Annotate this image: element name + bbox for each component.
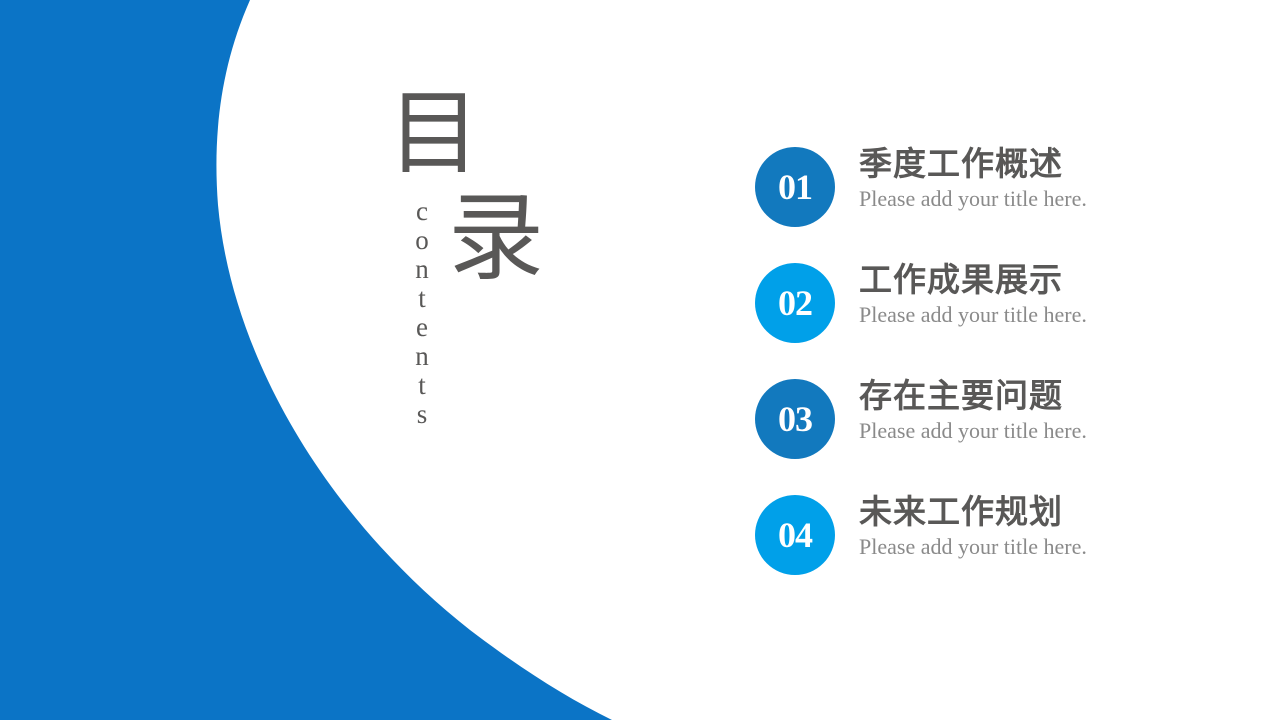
contents-list: 01 季度工作概述 Please add your title here. 02… — [755, 147, 1215, 611]
item-number-badge[interactable]: 03 — [755, 379, 835, 459]
list-item-subtitle: Please add your title here. — [859, 418, 1209, 444]
slide-canvas: 目 录 c o n t e n t s 01 季度工作概述 Please add… — [0, 0, 1280, 720]
title-latin-letter: e — [416, 314, 428, 343]
title-latin-letter: s — [417, 401, 428, 430]
title-latin-letter: n — [415, 256, 429, 285]
title-latin-letter: n — [415, 343, 429, 372]
list-item[interactable]: 01 季度工作概述 Please add your title here. — [755, 147, 1215, 263]
list-item-title: 未来工作规划 — [859, 492, 1209, 532]
item-number-badge[interactable]: 02 — [755, 263, 835, 343]
list-item-title: 季度工作概述 — [859, 144, 1209, 184]
list-item-text: 季度工作概述 Please add your title here. — [859, 144, 1209, 213]
title-latin-letter: t — [418, 285, 426, 314]
title-latin-vertical: c o n t e n t s — [402, 198, 442, 430]
item-number-badge[interactable]: 01 — [755, 147, 835, 227]
list-item-text: 工作成果展示 Please add your title here. — [859, 260, 1209, 329]
list-item-subtitle: Please add your title here. — [859, 302, 1209, 328]
list-item[interactable]: 04 未来工作规划 Please add your title here. — [755, 495, 1215, 611]
list-item[interactable]: 03 存在主要问题 Please add your title here. — [755, 379, 1215, 495]
list-item-text: 未来工作规划 Please add your title here. — [859, 492, 1209, 561]
title-latin-letter: o — [415, 227, 429, 256]
list-item-subtitle: Please add your title here. — [859, 534, 1209, 560]
list-item-title: 存在主要问题 — [859, 376, 1209, 416]
title-latin-letter: t — [418, 372, 426, 401]
list-item-subtitle: Please add your title here. — [859, 186, 1209, 212]
list-item[interactable]: 02 工作成果展示 Please add your title here. — [755, 263, 1215, 379]
title-char-lu: 录 — [448, 190, 544, 286]
title-latin-letter: c — [416, 198, 428, 227]
item-number-badge[interactable]: 04 — [755, 495, 835, 575]
title-char-mu: 目 — [388, 88, 480, 180]
list-item-title: 工作成果展示 — [859, 260, 1209, 300]
page-title: 目 录 c o n t e n t s — [360, 80, 580, 420]
list-item-text: 存在主要问题 Please add your title here. — [859, 376, 1209, 445]
